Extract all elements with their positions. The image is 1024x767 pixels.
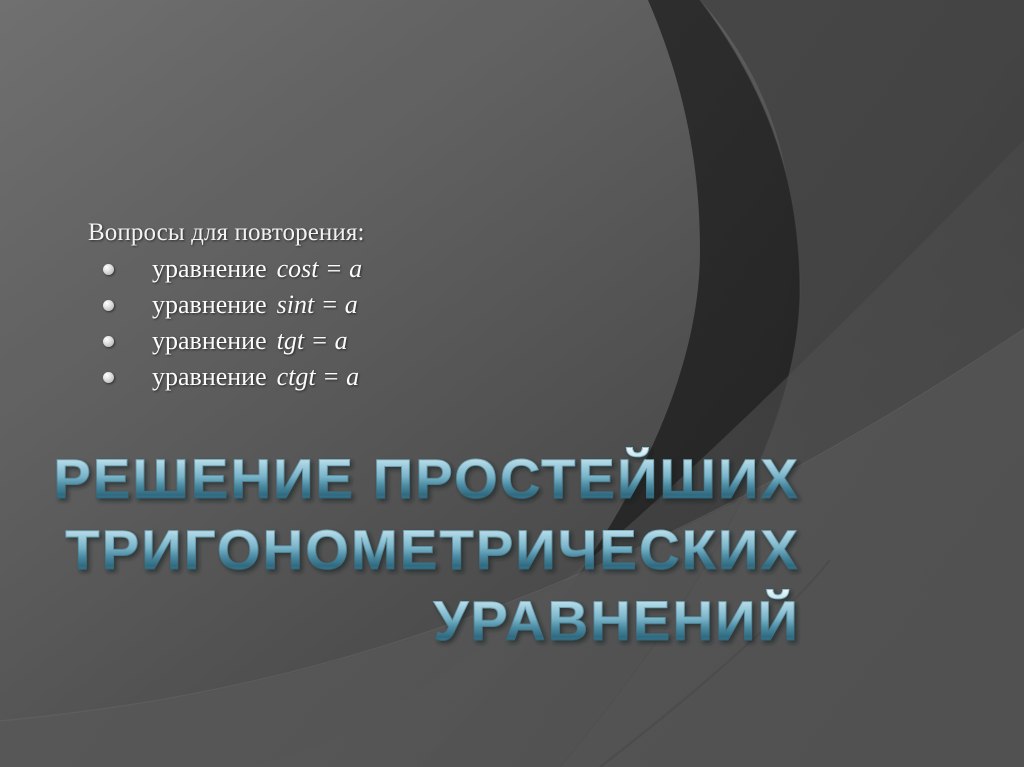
list-item-label: уравнение	[152, 290, 267, 319]
list-item: уравнение cost = a	[88, 251, 648, 287]
list-item-label: уравнение	[152, 362, 267, 391]
list-item-equation: tgt = a	[277, 326, 348, 355]
bullet-dot-icon	[103, 300, 114, 311]
slide-title-line-1: РЕШЕНИЕ ПРОСТЕЙШИХ	[53, 447, 800, 510]
questions-heading: Вопросы для повторения:	[88, 218, 648, 247]
bullet-dot-icon	[103, 336, 114, 347]
questions-block: Вопросы для повторения: уравнение cost =…	[88, 218, 648, 395]
slide-title-artwork: РЕШЕНИЕ ПРОСТЕЙШИХ ТРИГОНОМЕТРИЧЕСКИХ УР…	[44, 452, 804, 682]
list-item: уравнение ctgt = a	[88, 359, 648, 395]
list-item-equation: cost = a	[277, 254, 362, 283]
slide-canvas: Вопросы для повторения: уравнение cost =…	[0, 0, 1024, 767]
list-item: уравнение sint = a	[88, 287, 648, 323]
slide-content: Вопросы для повторения: уравнение cost =…	[0, 0, 1024, 767]
slide-title-line-3: УРАВНЕНИЙ	[433, 589, 800, 652]
list-item-label: уравнение	[152, 326, 267, 355]
list-item-label: уравнение	[152, 254, 267, 283]
list-item-equation: ctgt = a	[277, 362, 360, 391]
list-item-equation: sint = a	[277, 290, 358, 319]
questions-list: уравнение cost = a уравнение sint = a ур…	[88, 251, 648, 395]
slide-title-line-2: ТРИГОНОМЕТРИЧЕСКИХ	[65, 518, 800, 581]
bullet-dot-icon	[103, 372, 114, 383]
list-item: уравнение tgt = a	[88, 323, 648, 359]
bullet-dot-icon	[103, 264, 114, 275]
slide-title: РЕШЕНИЕ ПРОСТЕЙШИХ ТРИГОНОМЕТРИЧЕСКИХ УР…	[44, 452, 804, 682]
